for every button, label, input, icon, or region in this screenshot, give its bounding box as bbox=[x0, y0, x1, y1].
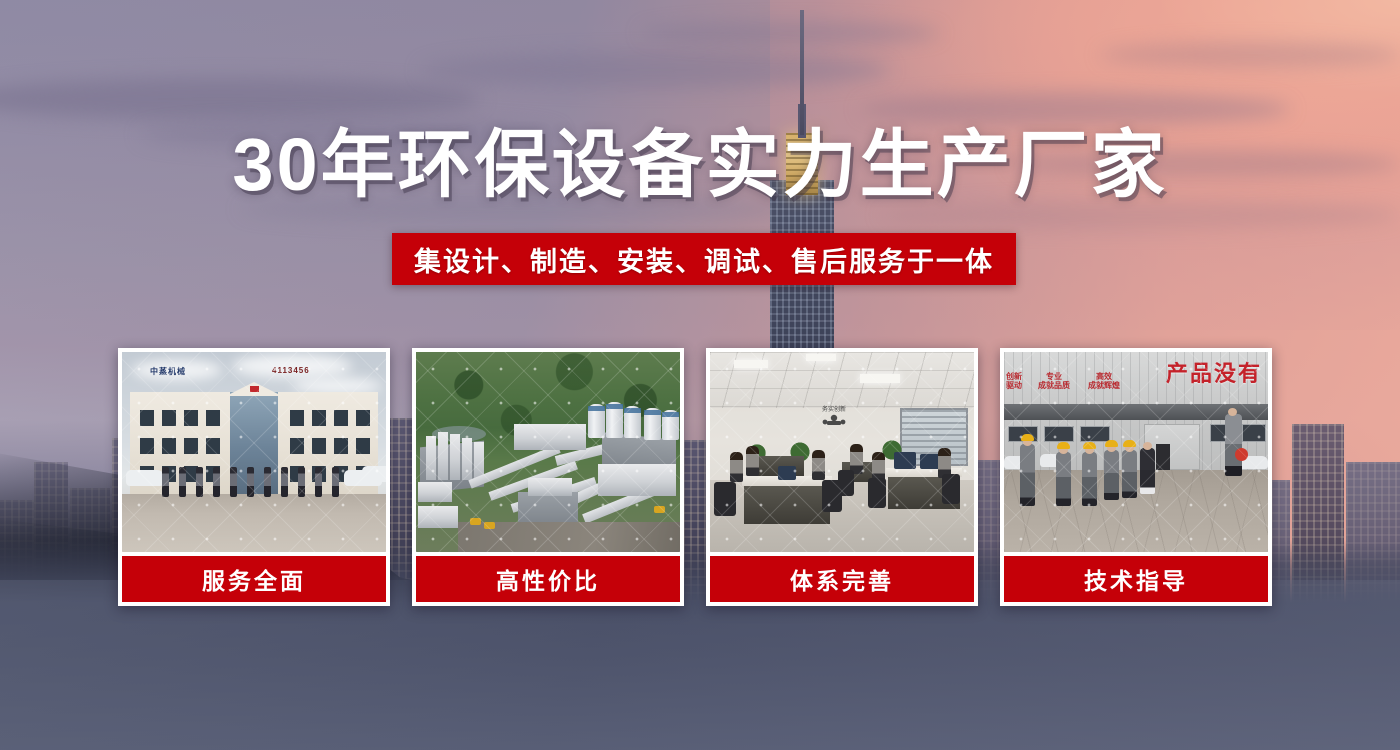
subtitle-ribbon: 集设计、制造、安装、调试、售后服务于一体 bbox=[392, 233, 1016, 285]
card-caption: 体系完善 bbox=[710, 556, 974, 602]
card-photo-office-building: 中蒸机械 4113456 bbox=[122, 352, 386, 552]
feature-card[interactable]: 产品没有 创新驱动 专业成就品质 高效成就辉煌 bbox=[1000, 348, 1272, 606]
feature-card[interactable]: 高性价比 bbox=[412, 348, 684, 606]
wall-logo-icon: 务实创新 bbox=[818, 402, 850, 428]
factory-sign-text: 产品没有 bbox=[1166, 356, 1262, 388]
card-caption: 技术指导 bbox=[1004, 556, 1268, 602]
card-photo-factory-training: 产品没有 创新驱动 专业成就品质 高效成就辉煌 bbox=[1004, 352, 1268, 552]
svg-text:务实创新: 务实创新 bbox=[822, 405, 846, 413]
building-sign-text: 中蒸机械 bbox=[150, 366, 186, 377]
tower-antenna-icon bbox=[800, 10, 804, 135]
building-phone-text: 4113456 bbox=[272, 366, 310, 375]
subtitle-text: 集设计、制造、安装、调试、售后服务于一体 bbox=[414, 240, 994, 279]
card-photo-office-interior: 务实创新 bbox=[710, 352, 974, 552]
feature-card[interactable]: 务实创新 bbox=[706, 348, 978, 606]
card-caption: 高性价比 bbox=[416, 556, 680, 602]
card-caption: 服务全面 bbox=[122, 556, 386, 602]
feature-card[interactable]: 中蒸机械 4113456 bbox=[118, 348, 390, 606]
banner-stage: 30年环保设备实力生产厂家 集设计、制造、安装、调试、售后服务于一体 中蒸机械 … bbox=[0, 0, 1400, 750]
feature-card-row: 中蒸机械 4113456 bbox=[118, 348, 1282, 606]
card-photo-plant-aerial bbox=[416, 352, 680, 552]
page-title: 30年环保设备实力生产厂家 bbox=[0, 128, 1400, 202]
